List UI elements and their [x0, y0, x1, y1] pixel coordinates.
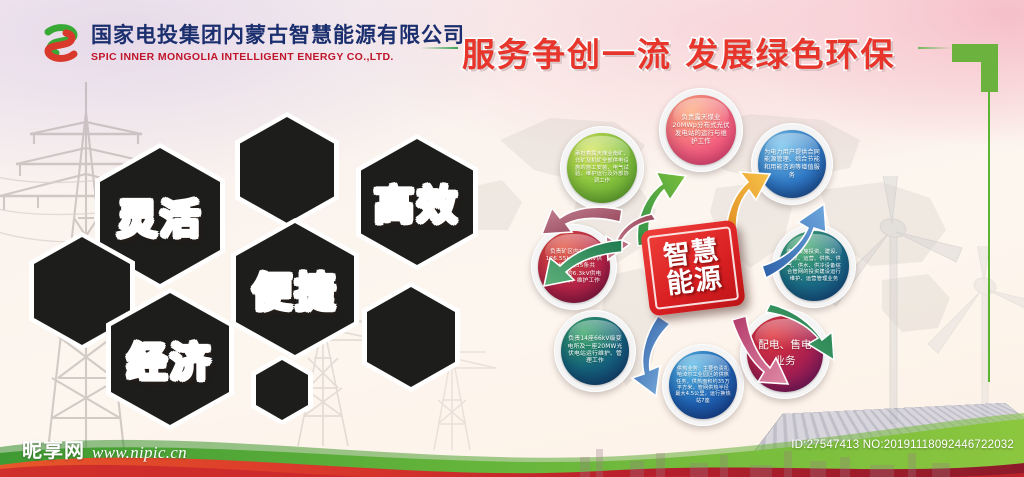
- watermark-cn-text: 昵享网: [22, 434, 85, 463]
- hex-green-blank[interactable]: [235, 112, 339, 228]
- wind-turbine-icon: [820, 176, 970, 429]
- poster-canvas: 国家电投集团内蒙古智慧能源有限公司 SPIC INNER MONGOLIA IN…: [0, 0, 1024, 477]
- center-badge-line2: 能源: [665, 265, 724, 299]
- company-name-en: SPIC INNER MONGOLIA INTELLIGENT ENERGY C…: [91, 51, 465, 63]
- hex-efficient[interactable]: 高效: [356, 134, 478, 270]
- site-watermark: 昵享网 www.nipic.cn: [22, 434, 187, 463]
- footer-ribbons: 昵享网 www.nipic.cn ID:27547413 NO:20191118…: [0, 407, 1024, 477]
- bubble-pv-20mwp-text: 负责露天煤业20MWp分布式光伏发电站的运行与维护工作: [672, 114, 730, 146]
- corner-bracket-decoration: [952, 44, 998, 92]
- arrow-left-mauve-icon: [530, 184, 630, 294]
- headline-rule-right: [918, 47, 952, 49]
- poster-headline: 服务争创一流 发展绿色环保: [462, 28, 896, 76]
- corner-vertical-line-decoration: [988, 92, 990, 382]
- hex-efficient-label: 高效: [356, 134, 478, 270]
- spic-swirl-logo-icon: [40, 22, 82, 64]
- header-band: 国家电投集团内蒙古智慧能源有限公司 SPIC INNER MONGOLIA IN…: [0, 0, 1024, 88]
- hex-convenient-label: 便捷: [231, 218, 359, 360]
- headline-rule-left: [420, 47, 458, 49]
- image-id-tag: ID:27547413 NO:20191118092446722032: [791, 439, 1014, 451]
- center-smart-energy-badge[interactable]: 智慧 能源: [640, 219, 746, 316]
- hex-convenient[interactable]: 便捷: [231, 218, 359, 360]
- watermark-url-text: www.nipic.cn: [92, 443, 187, 463]
- company-name-cn: 国家电投集团内蒙古智慧能源有限公司: [91, 23, 465, 47]
- company-logo-block: 国家电投集团内蒙古智慧能源有限公司 SPIC INNER MONGOLIA IN…: [40, 22, 465, 64]
- hex-orange-blank[interactable]: [362, 282, 460, 392]
